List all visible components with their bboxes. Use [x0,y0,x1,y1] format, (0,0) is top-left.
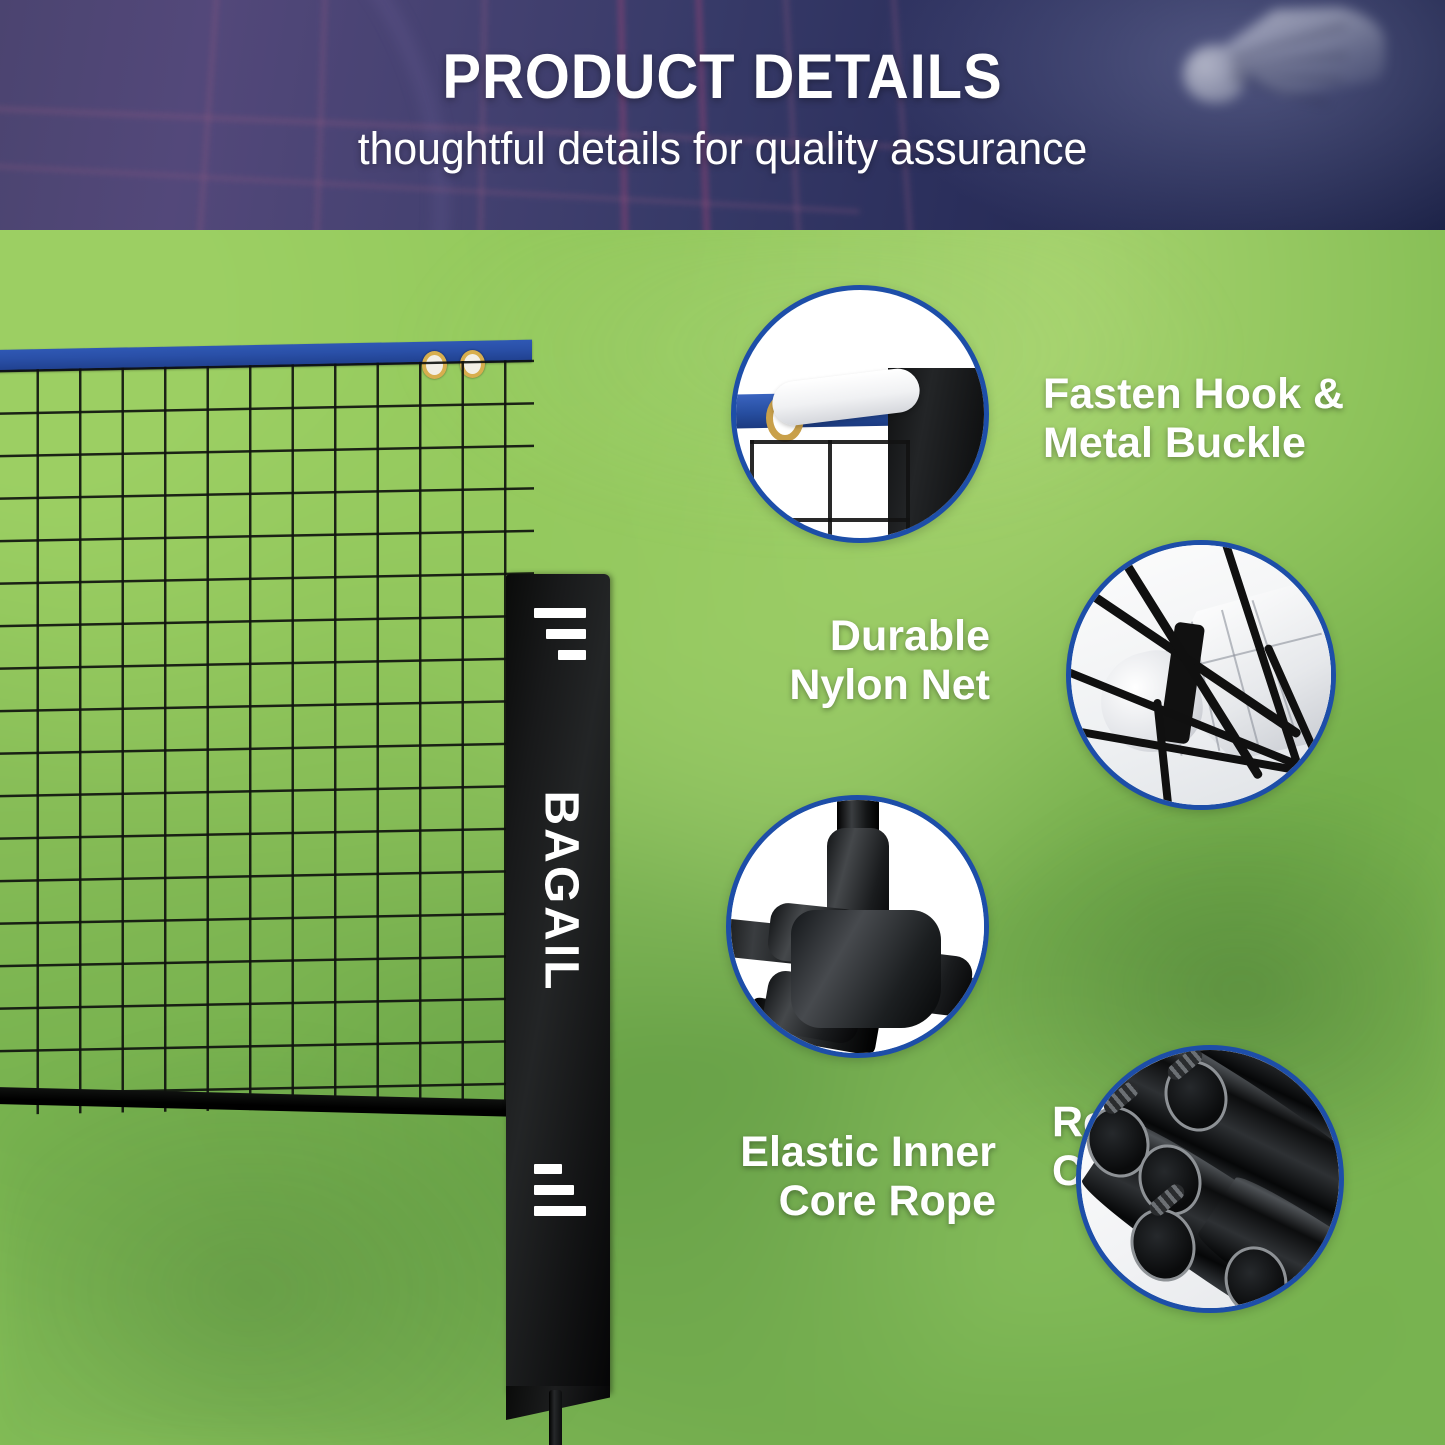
three-bar-logo-icon [534,608,586,671]
banner-net-string [617,0,628,230]
page-subtitle: thoughtful details for quality assurance [36,126,1409,171]
callout-circle-reinforced-connections [726,795,989,1058]
callout-circle-fasten-hook-metal-buckle [731,285,989,543]
banner-net-string [890,0,915,230]
center-pole [549,1390,562,1445]
page-title: PRODUCT DETAILS [58,46,1387,109]
badminton-net [0,350,574,1140]
banner-net-string [477,0,487,230]
header-banner: PRODUCT DETAILS thoughtful details for q… [0,0,1445,230]
three-bar-logo-icon [534,1164,586,1227]
brand-name: BAGAIL [534,767,589,1017]
banner-net-string [695,0,711,230]
net-mesh [0,360,534,1115]
product-detail-image: PRODUCT DETAILS thoughtful details for q… [0,0,1445,1445]
callout3-three-way-hub [791,910,941,1028]
callout-label-fasten-hook-metal-buckle: Fasten Hook & Metal Buckle [1043,370,1403,467]
callout-circle-elastic-inner-core-rope [1076,1045,1344,1313]
banner-net-string [782,0,802,230]
callout-circle-durable-nylon-net [1066,540,1336,810]
callout-label-elastic-inner-core-rope: Elastic Inner Core Rope [660,1128,996,1225]
product-photo-stage: BAGAIL Fasten [0,230,1445,1445]
callout-label-durable-nylon-net: Durable Nylon Net [660,612,990,709]
brand-logo: BAGAIL [534,574,586,1394]
callout1-net-mesh [750,440,910,543]
net-post-sleeve: BAGAIL [506,574,610,1394]
